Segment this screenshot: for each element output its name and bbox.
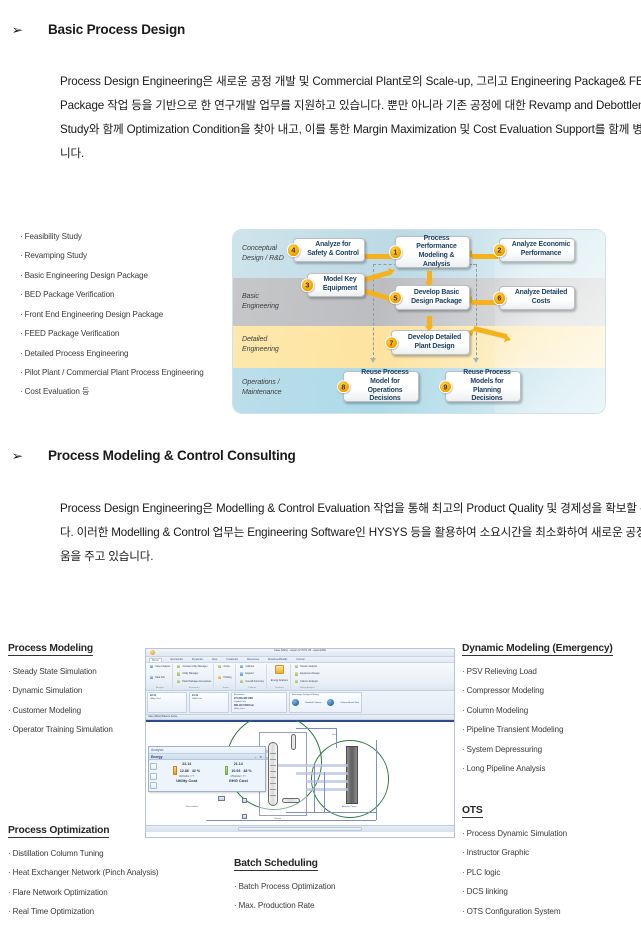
list-item-label: Dynamic Simulation <box>13 686 83 695</box>
column-process-optimization: Process Optimization ·Distillation Colum… <box>8 820 159 927</box>
node-label: Develop Basic Design Package <box>407 289 466 306</box>
dot-icon: · <box>462 686 465 695</box>
equipment-design-icon <box>295 672 298 675</box>
list-item: ·Batch Process Optimization <box>234 882 335 893</box>
ribbon-item-label: Activate Utility Manager <box>182 665 207 668</box>
stage-label-line: Engineering <box>242 302 279 312</box>
dot-icon: · <box>234 882 237 891</box>
column-list: ·PSV Relieving Load ·Compressor Modeling… <box>462 667 613 775</box>
list-item: ·Steady State Simulation <box>8 667 113 678</box>
grid-icon[interactable] <box>150 773 157 780</box>
activate-icon <box>177 665 180 668</box>
panel-economics[interactable]: Economics 271,600,480 USD Capital Cost 8… <box>231 692 287 713</box>
bar-indicator-icon <box>225 766 228 775</box>
stage-label-line: Conceptual <box>242 244 284 254</box>
dot-icon: · <box>462 745 465 754</box>
section-2-title: Process Modeling & Control Consulting <box>48 448 296 463</box>
column-ots: OTS ·Process Dynamic Simulation ·Instruc… <box>462 800 567 926</box>
arrow-bullet-icon: ➢ <box>11 449 50 463</box>
ribbon-item[interactable]: Equipment Design <box>295 672 320 675</box>
panel-label: Column Actual Size <box>340 702 359 704</box>
tab-view[interactable]: View <box>212 658 217 661</box>
list-item-label: PLC logic <box>467 868 501 877</box>
ribbon-item-label: Expand <box>245 672 253 675</box>
stage-label-line: Basic <box>242 292 279 302</box>
column-list: ·Steady State Simulation ·Dynamic Simula… <box>8 667 113 736</box>
arrow-4-to-1 <box>364 254 392 259</box>
metric-row: 10.93 48 % <box>213 766 265 775</box>
dot-icon: · <box>234 901 237 910</box>
ribbon-item-label: Stream Analysis <box>300 665 317 668</box>
node-badge: 1 <box>389 245 403 259</box>
node-label: Model Key Equipment <box>319 276 361 293</box>
list-item-label: Front End Engineering Design Package <box>25 310 164 319</box>
metric-percent: 48 % <box>243 769 251 773</box>
node-label: Analyze for Safety & Control <box>305 241 361 258</box>
stream-line <box>376 740 377 820</box>
column-list: ·Batch Process Optimization ·Max. Produc… <box>234 882 335 912</box>
tab-customize[interactable]: Customize <box>226 658 238 661</box>
ribbon-item[interactable]: Energy Analysis <box>271 679 288 682</box>
ribbon-item-label: Column Analysis <box>300 680 318 683</box>
list-item: ·Front End Engineering Design Package <box>20 310 204 321</box>
ribbon-item[interactable]: Expand <box>240 672 264 675</box>
list-item: ·Distillation Column Tuning <box>8 849 159 860</box>
energy-analysis-button-icon[interactable] <box>275 665 284 674</box>
list-item: ·Process Dynamic Simulation <box>462 829 567 840</box>
ribbon-item[interactable]: Activate Utility Manager <box>177 665 211 668</box>
list-item: ·PSV Relieving Load <box>462 667 613 678</box>
section-1-title: Basic Process Design <box>48 22 185 37</box>
flowsheet-label-feed: Feed <box>332 734 337 736</box>
metric-value: 12.86 <box>180 769 189 773</box>
dot-icon: · <box>462 667 465 676</box>
dot-icon: · <box>20 271 23 280</box>
reboiler-vessel[interactable] <box>282 798 300 803</box>
solver-active-icon <box>218 665 221 668</box>
chart-icon[interactable] <box>150 763 157 770</box>
dot-icon: · <box>462 907 465 916</box>
list-item-label: DCS linking <box>467 887 508 896</box>
list-item: ·Flare Network Optimization <box>8 888 159 899</box>
list-item: ·Pipeline Transient Modeling <box>462 725 613 736</box>
ribbon-group-solver: Active Holding Solver <box>216 664 236 689</box>
dot-icon: · <box>20 290 23 299</box>
metric-caption: GHG Cost <box>213 778 265 783</box>
ribbon-item[interactable]: Utility Manager <box>177 672 211 675</box>
column-list: ·Distillation Column Tuning ·Heat Exchan… <box>8 849 159 918</box>
ribbon-item[interactable]: Callouts <box>240 665 264 668</box>
package-icon <box>177 680 180 683</box>
list-item-label: FEED Package Verification <box>25 329 120 338</box>
list-item: ·DCS linking <box>462 887 567 898</box>
energy-panel-sidebar[interactable] <box>150 762 161 789</box>
dot-icon: · <box>8 907 11 916</box>
list-item: ·Column Modeling <box>462 706 613 717</box>
node-label: Process Performance Modeling & Analysis <box>407 235 466 270</box>
list-item: ·System Depressuring <box>462 745 613 756</box>
column-batch-scheduling: Batch Scheduling ·Batch Process Optimiza… <box>234 853 335 921</box>
list-item-label: Batch Process Optimization <box>239 882 336 891</box>
section-2-heading: ➢ Process Modeling & Control Consulting <box>0 448 296 463</box>
dot-icon: · <box>20 349 23 358</box>
column-dynamic-modeling: Dynamic Modeling (Emergency) ·PSV Reliev… <box>462 638 613 784</box>
callout-icon <box>240 665 243 668</box>
panel-window-controls[interactable]: ⌐ ✕ <box>255 755 263 759</box>
tab-home[interactable]: Home <box>149 658 162 662</box>
unit-op-cooler[interactable] <box>242 798 247 803</box>
column-title: Dynamic Modeling (Emergency) <box>462 643 613 656</box>
panel-exchanger-design[interactable]: Exchanger Design & Rating Detailed Colum… <box>289 692 362 713</box>
summary-panel-row: 22.14 Utility Cost 21.14 GHG Cost Econom… <box>146 691 454 715</box>
metric-utility-cost: 22.14 12.86 42 % MWdollar / YY Utility C… <box>161 762 213 789</box>
panel-utility-summary[interactable]: 22.14 Utility Cost <box>147 692 187 713</box>
ribbon-item-label: Energy Analysis <box>271 679 288 682</box>
node-badge: 7 <box>385 336 399 350</box>
manager-icon <box>177 672 180 675</box>
ribbon-item[interactable]: Case Analysis <box>150 665 170 668</box>
node-7[interactable]: 7 Develop Detailed Plant Design <box>391 330 470 355</box>
dot-icon: · <box>8 888 11 897</box>
dot-icon: · <box>20 329 23 338</box>
stream-line <box>206 820 376 821</box>
metric-row: 12.86 42 % <box>161 766 213 775</box>
list-item: ·BED Package Verification <box>20 290 204 301</box>
arrow-bullet-icon: ➢ <box>11 23 50 37</box>
dot-icon: · <box>8 868 11 877</box>
ribbon-item-label: Case Analysis <box>155 665 170 668</box>
panel-label: Utility Cost <box>234 708 284 710</box>
list-item-label: OTS Configuration System <box>467 907 561 916</box>
ribbon-group-economics: Activate Utility Manager Utility Manager… <box>175 664 214 689</box>
tab-resources[interactable]: Resources <box>247 658 259 661</box>
node-6[interactable]: 6 Analyze Detailed Costs <box>499 286 575 310</box>
stream-line <box>296 728 336 729</box>
ribbon-item-label: Holding <box>223 676 231 679</box>
node-label: Analyze Detailed Costs <box>511 289 571 306</box>
column-list: ·Process Dynamic Simulation ·Instructor … <box>462 829 567 918</box>
list-item: ·Cost Evaluation 등 <box>20 387 204 398</box>
node-3[interactable]: 3 Model Key Equipment <box>307 273 365 297</box>
stage-label-basic: Basic Engineering <box>242 292 279 311</box>
stage-label-line: Maintenance <box>242 388 282 398</box>
dashed-arrowhead-right <box>473 358 479 363</box>
stream-line <box>314 764 315 812</box>
ribbon-item[interactable]: Plant Package Accessories <box>177 680 211 683</box>
node-badge: 6 <box>493 291 507 305</box>
condenser-vessel[interactable] <box>291 734 296 750</box>
stream-analysis-icon <box>295 665 298 668</box>
node-label: Reuse Process Model for Operations Decis… <box>355 369 415 404</box>
flowsheet-label-absorber: Absorber Tower <box>342 806 357 808</box>
panel-ghg-summary[interactable]: 21.14 GHG Cost <box>189 692 229 713</box>
list-item: ·Customer Modeling <box>8 706 113 717</box>
node-5[interactable]: 5 Develop Basic Design Package <box>395 285 470 310</box>
panel-gauges: Detailed Column Column Actual Size <box>292 699 359 706</box>
window-title-bar: Case (Main) - Aspen HYSYS V8 - aspenONE <box>146 649 454 657</box>
expand-icon <box>240 672 243 675</box>
panel-label: GHG Cost <box>192 698 226 700</box>
panel-label: Utility Cost <box>150 698 184 700</box>
stream-line <box>306 780 348 783</box>
list-item-label: BED Package Verification <box>25 290 115 299</box>
list-item-label: System Depressuring <box>467 745 542 754</box>
band-operations-maintenance <box>233 368 605 413</box>
ribbon-group-safety-analysis: Stream Analysis Equipment Design Column … <box>293 664 322 689</box>
list-item-label: Operator Training Simulation <box>13 725 113 734</box>
stage-label-operations: Operations / Maintenance <box>242 378 282 397</box>
list-item-label: Process Dynamic Simulation <box>467 829 567 838</box>
dot-icon: · <box>20 232 23 241</box>
list-item: ·OTS Configuration System <box>462 907 567 918</box>
list-item: ·Heat Exchanger Network (Pinch Analysis) <box>8 868 159 879</box>
panel-value: 886,140 USD/Year <box>234 704 284 707</box>
list-item-label: Steady State Simulation <box>13 667 97 676</box>
dot-icon: · <box>8 667 11 676</box>
stage-label-line: Detailed <box>242 335 279 345</box>
absorber-tower[interactable] <box>346 746 358 804</box>
panel-title: Exchanger Design & Rating <box>292 694 359 696</box>
metric-percent: 42 % <box>192 769 200 773</box>
solver-hold-icon <box>218 676 221 679</box>
panel-value: 271,600,480 USD <box>234 697 284 700</box>
dot-icon: · <box>8 849 11 858</box>
column-analysis-icon <box>295 680 298 683</box>
column-title: OTS <box>462 805 483 818</box>
ribbon-item-label: Plant Package Accessories <box>182 680 211 683</box>
overall-summary-icon <box>240 680 243 683</box>
stage-label-detailed: Detailed Engineering <box>242 335 279 354</box>
ribbon-group-caption: Solver <box>218 687 233 689</box>
window-title-text: Case (Main) - Aspen HYSYS V8 - aspenONE <box>274 649 326 652</box>
ribbon-item-label: Equipment Design <box>300 672 320 675</box>
ribbon-group-callouts: Callouts Expand Overall Summary Callouts <box>238 664 267 689</box>
node-label: Analyze Economic Performance <box>511 241 571 258</box>
tab-format[interactable]: Format <box>296 658 304 661</box>
list-item-label: Real Time Optimization <box>13 907 94 916</box>
node-2[interactable]: 2 Analyze Economic Performance <box>499 238 575 262</box>
section-1-heading: ➢ Basic Process Design <box>0 22 185 37</box>
ribbon-item[interactable]: Stream Analysis <box>295 665 320 668</box>
list-item-label: Heat Exchanger Network (Pinch Analysis) <box>13 868 159 877</box>
dot-icon: · <box>462 868 465 877</box>
basic-process-design-list: ·Feasibility Study ·Revamping Study ·Bas… <box>20 232 204 407</box>
app-menu-orb-icon[interactable] <box>150 650 155 655</box>
list-item: ·Dynamic Simulation <box>8 686 113 697</box>
section-2-paragraph: Process Design Engineering은 Modelling & … <box>60 497 641 569</box>
list-item: ·Real Time Optimization <box>8 907 159 918</box>
list-item: ·Pilot Plant / Commercial Plant Process … <box>20 368 204 379</box>
list-item-label: Column Modeling <box>467 706 528 715</box>
flowsheet-label-recirculation: Recirculation <box>186 806 198 808</box>
node-label: Reuse Process Models for Planning Decisi… <box>457 369 517 404</box>
node-label: Develop Detailed Plant Design <box>403 334 466 351</box>
list-item: ·Max. Production Rate <box>234 901 335 912</box>
node-1[interactable]: 1 Process Performance Modeling & Analysi… <box>395 236 470 268</box>
stage-label-line: Engineering <box>242 345 279 355</box>
stream-line <box>336 728 337 748</box>
stream-line <box>296 772 348 775</box>
flowsheet-canvas[interactable]: Column Absorber Tower Recirculation Feed… <box>146 720 454 832</box>
bar-indicator-icon <box>173 766 176 775</box>
gauge-icon <box>292 699 299 706</box>
tab-dynamics[interactable]: Dynamics <box>192 658 203 661</box>
panel-value: 22.14 <box>150 694 184 697</box>
hysys-application-screenshot: Case (Main) - Aspen HYSYS V8 - aspenONE … <box>145 648 455 838</box>
panel-value: 21.14 <box>192 694 226 697</box>
list-item: ·Revamping Study <box>20 251 204 262</box>
unit-op-valve[interactable] <box>218 796 225 801</box>
node-badge: 3 <box>301 278 315 292</box>
ribbon-item-label: Overall Summary <box>245 680 263 683</box>
dot-icon: · <box>462 725 465 734</box>
panel-label: Detailed Column <box>305 702 321 704</box>
list-item-label: Distillation Column Tuning <box>13 849 104 858</box>
data-fit-icon <box>150 676 153 679</box>
list-item-label: PSV Relieving Load <box>467 667 537 676</box>
list-item-label: Revamping Study <box>25 251 87 260</box>
dashed-arrowhead-left <box>370 358 376 363</box>
column-title: Process Optimization <box>8 825 109 838</box>
list-item-label: Max. Production Rate <box>239 901 315 910</box>
ribbon-group-caption: Products <box>271 687 288 689</box>
ribbon-item-label: Callouts <box>245 665 254 668</box>
ribbon-item[interactable]: Overall Summary <box>240 680 264 683</box>
stream-line <box>306 788 348 791</box>
list-item: ·Basic Engineering Design Package <box>20 271 204 282</box>
horizontal-scrollbar[interactable] <box>146 825 454 832</box>
dot-icon: · <box>462 829 465 838</box>
list-item-label: Detailed Process Engineering <box>25 349 129 358</box>
dot-icon: · <box>20 251 23 260</box>
ribbon-item[interactable]: Active <box>218 665 233 668</box>
analysis-icon <box>150 665 153 668</box>
stage-label-line: Operations / <box>242 378 282 388</box>
node-9[interactable]: 9 Reuse Process Models for Planning Deci… <box>445 371 521 402</box>
scrollbar-thumb[interactable] <box>238 827 361 831</box>
node-badge: 2 <box>493 243 507 257</box>
dashed-connector-left-top <box>373 264 397 265</box>
tab-flowsheet-modify[interactable]: Flowsheet/Modify <box>268 658 287 661</box>
dot-icon: · <box>462 764 465 773</box>
distillation-column[interactable] <box>268 742 278 806</box>
dot-icon: · <box>20 368 23 377</box>
list-item: ·Instructor Graphic <box>462 848 567 859</box>
list-item-label: Instructor Graphic <box>467 848 530 857</box>
list-item-label: Pipeline Transient Modeling <box>467 725 564 734</box>
ribbon-item[interactable]: Holding <box>218 676 233 679</box>
dot-icon: · <box>20 387 23 396</box>
list-item: ·Feasibility Study <box>20 232 204 243</box>
tab-economics[interactable]: Economics <box>171 658 183 661</box>
list-item-label: Feasibility Study <box>25 232 82 241</box>
ribbon-item-label: Active <box>223 665 230 668</box>
stage-label-line: Design / R&D <box>242 254 284 264</box>
list-item-label: Long Pipeline Analysis <box>467 764 546 773</box>
panel-title: Economics <box>234 694 284 696</box>
list-item-label: Cost Evaluation 등 <box>25 387 90 396</box>
section-1-paragraph: Process Design Engineering은 새로운 공정 개발 및 … <box>60 70 641 166</box>
stream-line <box>286 812 376 813</box>
gauge-icon <box>327 699 334 706</box>
dot-icon: · <box>8 686 11 695</box>
list-item: ·Detailed Process Engineering <box>20 349 204 360</box>
ribbon-group-analysis: Case Analysis Data Fits Analysis <box>148 664 173 689</box>
metric-value: 10.93 <box>231 769 240 773</box>
node-badge: 9 <box>439 380 453 394</box>
node-badge: 8 <box>337 380 351 394</box>
ribbon-item[interactable]: Column Analysis <box>295 680 320 683</box>
list-item: ·PLC logic <box>462 868 567 879</box>
stream-line <box>324 772 325 812</box>
list-item-label: Flare Network Optimization <box>13 888 108 897</box>
dot-icon: · <box>8 706 11 715</box>
dashed-connector-right <box>476 264 477 360</box>
stream-line <box>278 764 348 767</box>
energy-panel-title: Energy <box>151 755 163 759</box>
unit-op-pump[interactable] <box>242 814 247 819</box>
list-item: ·Long Pipeline Analysis <box>462 764 613 775</box>
ribbon-group-caption: Economics <box>177 687 211 689</box>
panel-label: Capital Cost <box>234 701 284 703</box>
ribbon-group-caption: Callouts <box>240 687 264 689</box>
ribbon-item-label: Data Fits <box>155 676 165 679</box>
process-workflow-diagram: Conceptual Design / R&D Basic Engineerin… <box>233 230 605 413</box>
list-item: ·Compressor Modeling <box>462 686 613 697</box>
dot-icon: · <box>462 887 465 896</box>
list-item: ·FEED Package Verification <box>20 329 204 340</box>
column-title: Batch Scheduling <box>234 858 318 871</box>
metric-caption: Utility Cost <box>161 778 213 783</box>
dot-icon: · <box>462 706 465 715</box>
ribbon-group-products: Energy Analysis Products <box>269 664 291 689</box>
node-badge: 5 <box>389 291 403 305</box>
ribbon-group-caption: Safety Analysis <box>295 687 320 689</box>
node-badge: 4 <box>287 243 301 257</box>
list-item-label: Basic Engineering Design Package <box>25 271 148 280</box>
energy-panel-supertitle: Analysis <box>149 747 265 754</box>
energy-analysis-panel[interactable]: Analysis Energy ⌐ ✕ 22.14 12.86 42 % <box>148 746 266 792</box>
dot-icon: · <box>462 848 465 857</box>
ribbon-item[interactable]: Data Fits <box>150 676 170 679</box>
ribbon-item-label: Utility Manager <box>182 672 198 675</box>
column-title: Process Modeling <box>8 643 93 656</box>
list-item: ·Operator Training Simulation <box>8 725 113 736</box>
list-item-label: Customer Modeling <box>13 706 81 715</box>
metric-ghg-cost: 21.14 10.93 48 % MWdollar / YY GHG Cost <box>213 762 265 789</box>
ribbon-group-caption: Analysis <box>150 687 170 689</box>
list-item-label: Pilot Plant / Commercial Plant Process E… <box>25 368 204 377</box>
stage-label-conceptual: Conceptual Design / R&D <box>242 244 284 263</box>
list-item-label: Compressor Modeling <box>467 686 544 695</box>
ribbon-toolbar[interactable]: Case Analysis Data Fits Analysis Activat… <box>146 663 454 691</box>
energy-panel-body: 22.14 12.86 42 % MWdollar / YY Utility C… <box>149 760 265 791</box>
report-icon[interactable] <box>150 782 157 789</box>
node-8[interactable]: 8 Reuse Process Model for Operations Dec… <box>343 371 419 402</box>
dot-icon: · <box>20 310 23 319</box>
column-process-modeling: Process Modeling ·Steady State Simulatio… <box>8 638 113 745</box>
dot-icon: · <box>8 725 11 734</box>
node-4[interactable]: 4 Analyze for Safety & Control <box>293 238 365 262</box>
